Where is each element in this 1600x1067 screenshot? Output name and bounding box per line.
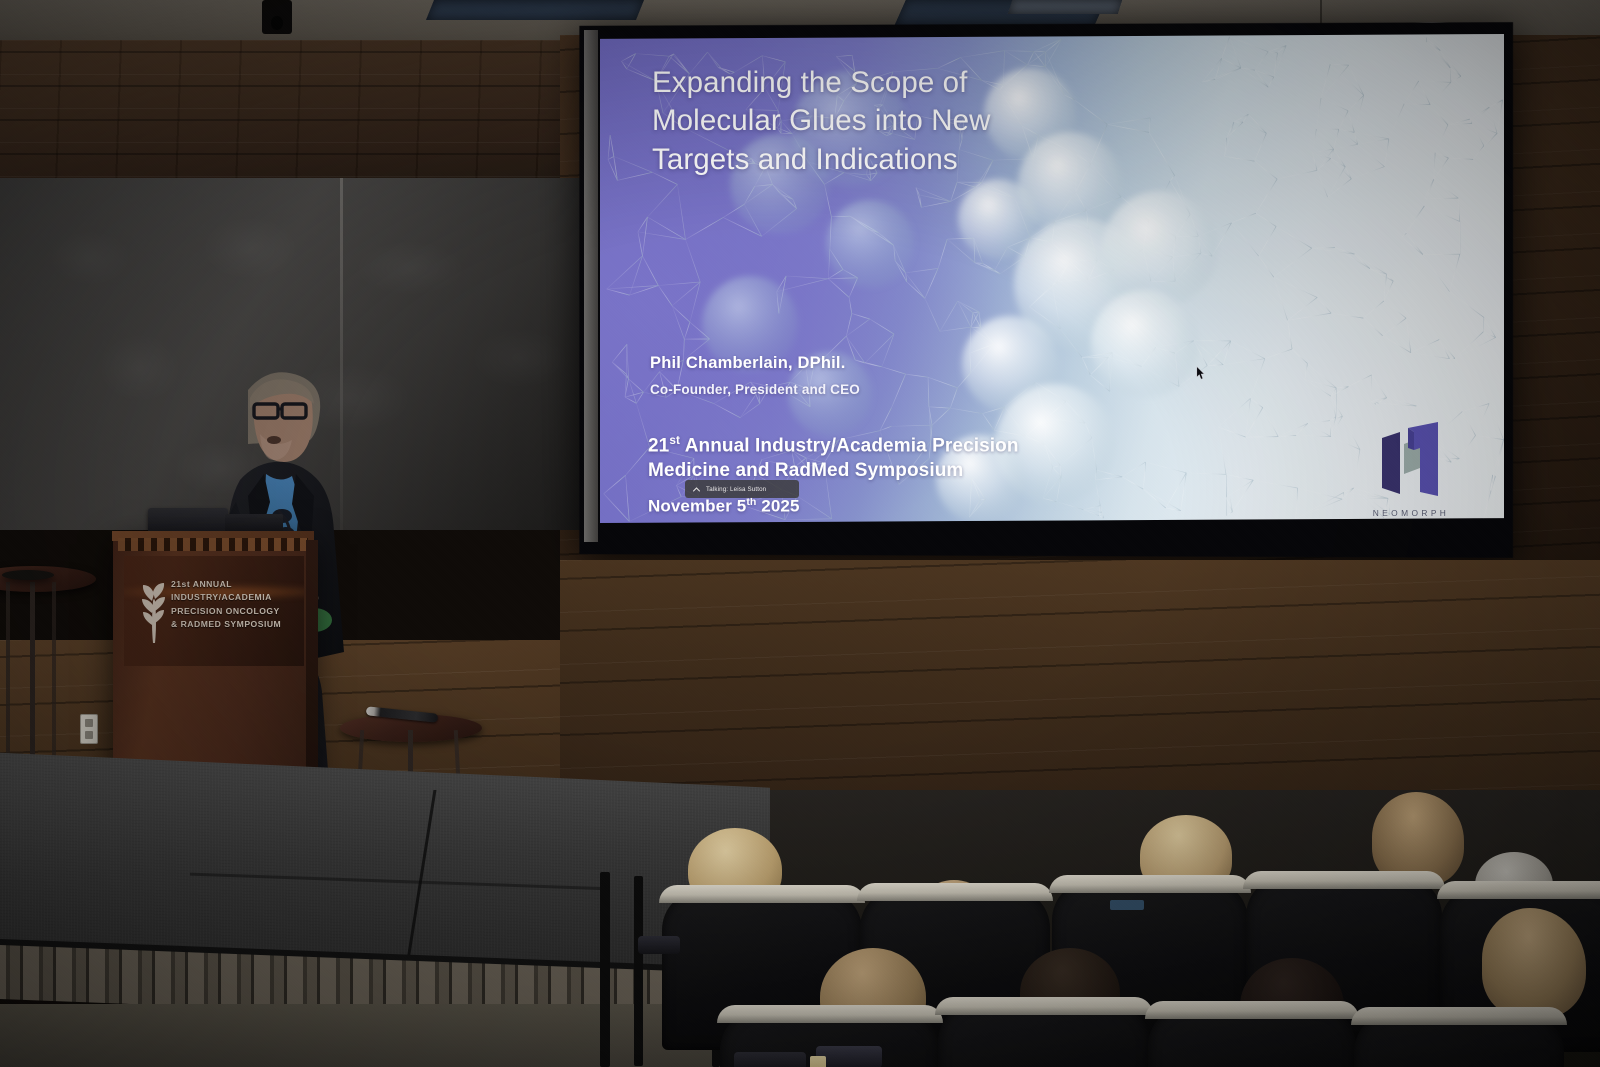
projection-screen-left-edge: [584, 30, 598, 542]
neomorph-wordmark: NEOMORPH: [1364, 508, 1458, 518]
slide-title-line-2: Molecular Glues into New: [652, 102, 1072, 140]
slide-speaker-role: Co-Founder, President and CEO: [650, 382, 860, 397]
slide-event-title: 21st Annual Industry/Academia Precision …: [648, 433, 1048, 484]
seat: [1354, 1012, 1564, 1067]
wood-wall-upper-left: [0, 40, 620, 180]
seat: [1148, 1006, 1356, 1067]
presentation-slide[interactable]: Expanding the Scope of Molecular Glues i…: [600, 34, 1504, 523]
seat: [938, 1002, 1150, 1067]
slide-title-line-1: Expanding the Scope of: [652, 64, 1072, 102]
talking-indicator-badge[interactable]: Talking: Leisa Sutton: [685, 480, 799, 498]
podium-sign-line-4: & RADMED SYMPOSIUM: [171, 618, 299, 631]
podium-sign-line-3: PRECISION ONCOLOGY: [171, 605, 299, 618]
podium-sign: 21st ANNUAL INDUSTRY/ACADEMIA PRECISION …: [124, 556, 304, 666]
wall-outlet: [80, 714, 98, 744]
talking-indicator-label: Talking: Leisa Sutton: [706, 486, 766, 493]
seat-armrest: [734, 1052, 806, 1067]
neomorph-logo: NEOMORPH: [1364, 420, 1458, 518]
slide-event-line-1: 21st Annual Industry/Academia Precision: [648, 433, 1048, 459]
slide-date: November 5th 2025: [648, 496, 800, 517]
side-table-left-object: [2, 570, 54, 580]
audience-laptop-screen: [1110, 900, 1144, 910]
slide-title-line-3: Targets and Indications: [652, 141, 1072, 179]
auditorium-scene: Expanding the Scope of Molecular Glues i…: [0, 0, 1600, 1067]
projector-mount-head: [271, 16, 283, 30]
podium-notched-trim: [118, 538, 308, 551]
podium-sign-line-1: 21st ANNUAL: [171, 578, 299, 591]
slide-speaker-name: Phil Chamberlain, DPhil.: [650, 354, 846, 373]
podium-sign-text: 21st ANNUAL INDUSTRY/ACADEMIA PRECISION …: [171, 578, 299, 631]
seat-armrest: [638, 936, 680, 954]
chevron-up-icon[interactable]: [692, 485, 701, 494]
leaf-caduceus-icon: [139, 581, 167, 643]
audience: [620, 780, 1600, 1067]
ceiling-recess: [426, 0, 644, 20]
slide-title: Expanding the Scope of Molecular Glues i…: [652, 64, 1072, 179]
podium-sign-line-2: INDUSTRY/ACADEMIA: [171, 591, 299, 604]
neomorph-mark-icon: [1364, 420, 1458, 502]
ceiling-recess: [1008, 0, 1123, 14]
drink-cup: [810, 1056, 826, 1067]
handrail-post: [600, 872, 610, 1067]
mouse-cursor-icon: [1196, 366, 1205, 380]
